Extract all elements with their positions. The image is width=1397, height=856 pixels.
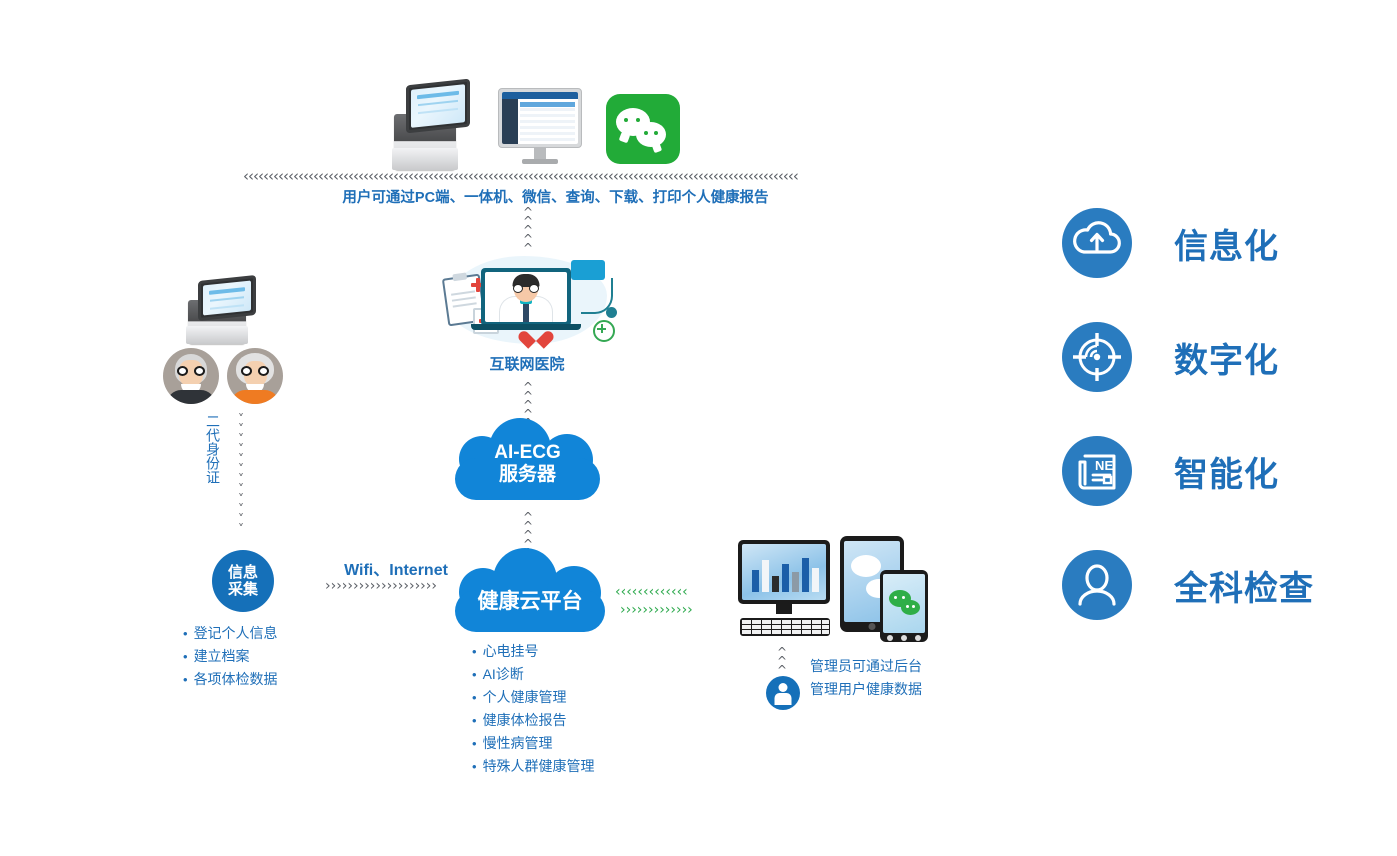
admin-phone — [880, 570, 928, 642]
hospital-to-top-arrow: ^^^^^ — [520, 208, 536, 253]
admin-desktop-monitor — [738, 540, 830, 636]
feature-item-informatization[interactable]: 信息化 — [1062, 208, 1279, 278]
feature-item-digitalization[interactable]: 数字化 — [1062, 322, 1279, 392]
feature-item-intelligence[interactable]: N E 智能化 — [1062, 436, 1279, 506]
tablet-home-button — [869, 623, 876, 630]
list-item: 慢性病管理 — [472, 732, 595, 755]
platform-line1: 健康云平台 — [455, 590, 605, 615]
id-card-label: 二代身份证 — [203, 414, 219, 484]
admin-up-arrow: ^^^ — [774, 648, 790, 675]
server-line2: 服务器 — [455, 464, 600, 486]
chat-bubble-icon — [571, 260, 605, 280]
heart-icon — [525, 324, 547, 344]
network-label: Wifi、Internet — [320, 556, 472, 580]
admin-monitor-neck — [776, 604, 792, 614]
newspaper-letter-n: N — [1095, 458, 1104, 473]
wechat-icon — [606, 94, 680, 164]
monitor-foot — [522, 159, 558, 164]
admin-keyboard — [740, 618, 830, 636]
kiosk-screen — [406, 79, 470, 134]
laptop-screen — [481, 268, 571, 326]
server-line1: AI-ECG — [455, 442, 600, 464]
doctor-tie — [523, 304, 529, 322]
user-person-icon — [1062, 550, 1132, 620]
badge-line2: 采集 — [228, 581, 258, 598]
monitor-frame — [498, 88, 582, 148]
phone-buttons — [883, 634, 925, 641]
kiosk-device-left — [186, 278, 268, 344]
top-caption: 用户可通过PC端、一体机、微信、查询、下载、打印个人健康报告 — [243, 186, 868, 207]
internet-hospital-illustration — [437, 252, 617, 352]
admin-monitor-screen — [742, 544, 826, 600]
target-crosshair-icon — [1062, 322, 1132, 392]
info-collect-badge: 信息 采集 — [212, 550, 274, 612]
health-cloud-platform: 健康云平台 — [455, 548, 605, 632]
list-item: 心电挂号 — [472, 640, 595, 663]
feature-label: 智能化 — [1174, 447, 1279, 496]
list-item: AI诊断 — [472, 663, 595, 686]
ai-ecg-server-cloud: AI-ECG 服务器 — [455, 418, 600, 502]
phone-screen — [883, 574, 925, 633]
admin-caption: 管理员可通过后台 管理用户健康数据 — [810, 655, 922, 701]
kiosk-base — [392, 148, 458, 170]
list-item: 建立档案 — [183, 645, 278, 668]
hospital-label: 互联网医院 — [437, 353, 617, 374]
list-item: 各项体检数据 — [183, 668, 278, 691]
kiosk-device-top — [392, 82, 474, 170]
admin-monitor-frame — [738, 540, 830, 604]
pc-monitor-top — [498, 88, 582, 168]
newspaper-letter-e: E — [1105, 458, 1114, 473]
avatar-elderly-man — [163, 348, 219, 404]
wechat-logo — [606, 94, 680, 164]
list-item: 个人健康管理 — [472, 686, 595, 709]
doctor-glasses — [513, 284, 539, 293]
feature-item-general-checkup[interactable]: 全科检查 — [1062, 550, 1314, 620]
green-plus-icon — [593, 320, 615, 342]
top-dashed-rail: ‹‹‹‹‹‹‹‹‹‹‹‹‹‹‹‹‹‹‹‹‹‹‹‹‹‹‹‹‹‹‹‹‹‹‹‹‹‹‹‹… — [243, 168, 868, 184]
platform-to-admin-arrow-right: ››››››››››››› — [620, 602, 740, 618]
avatar-elderly-woman — [227, 348, 283, 404]
admin-caption-line1: 管理员可通过后台 — [810, 655, 922, 678]
platform-to-admin-arrow-left: ‹‹‹‹‹‹‹‹‹‹‹‹‹ — [615, 584, 735, 600]
badge-line1: 信息 — [228, 564, 258, 581]
phone-frame — [880, 570, 928, 642]
feature-label: 数字化 — [1174, 333, 1279, 382]
admin-user-icon — [766, 676, 800, 710]
cloud-upload-icon — [1062, 208, 1132, 278]
list-item: 健康体检报告 — [472, 709, 595, 732]
admin-caption-line2: 管理用户健康数据 — [810, 678, 922, 701]
feature-label: 全科检查 — [1174, 561, 1314, 610]
collect-bullet-list: 登记个人信息 建立档案 各项体检数据 — [183, 622, 278, 691]
list-item: 登记个人信息 — [183, 622, 278, 645]
stethoscope-icon — [581, 278, 613, 314]
feature-label: 信息化 — [1174, 219, 1279, 268]
wifi-internet-arrow: ›››››››››››››››››››› — [325, 578, 475, 594]
list-item: 特殊人群健康管理 — [472, 755, 595, 778]
id-card-label-text: 二代身份证 — [203, 414, 222, 484]
monitor-screen — [502, 92, 578, 144]
idcard-down-arrow: ˅˅˅˅˅˅ ˅˅˅˅˅˅ — [233, 414, 249, 534]
platform-service-list: 心电挂号 AI诊断 个人健康管理 健康体检报告 慢性病管理 特殊人群健康管理 — [472, 640, 595, 778]
newspaper-icon: N E — [1062, 436, 1132, 506]
